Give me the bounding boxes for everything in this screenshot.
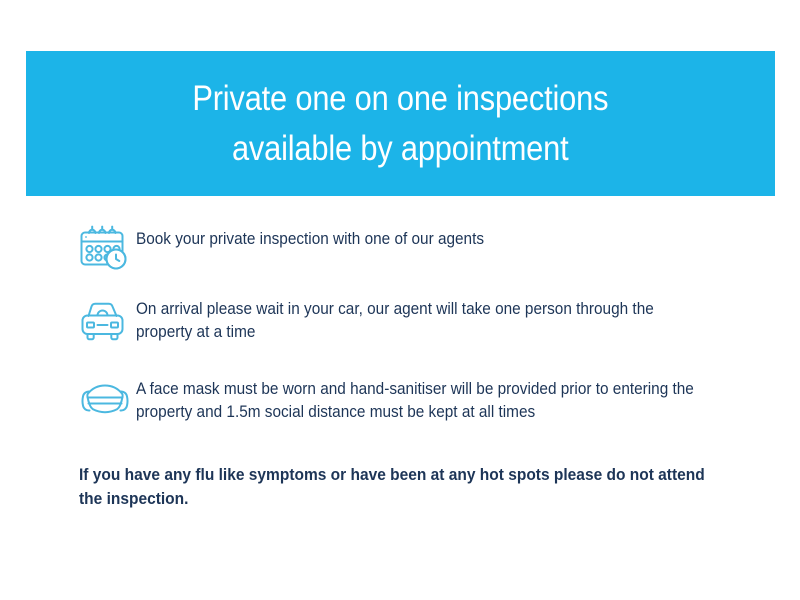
- list-item: Book your private inspection with one of…: [78, 226, 738, 270]
- header-banner: Private one on one inspections available…: [26, 51, 775, 196]
- banner-title-line-2: available by appointment: [232, 124, 569, 174]
- banner-title-line-1: Private one on one inspections: [193, 74, 609, 124]
- face-mask-icon: [78, 376, 136, 426]
- list-item: A face mask must be worn and hand-saniti…: [78, 376, 738, 426]
- list-item-label: A face mask must be worn and hand-saniti…: [136, 376, 696, 425]
- footer-warning-note: If you have any flu like symptoms or hav…: [79, 464, 718, 512]
- list-item-label: Book your private inspection with one of…: [136, 226, 696, 251]
- list-item: On arrival please wait in your car, our …: [78, 296, 738, 346]
- list-item-label: On arrival please wait in your car, our …: [136, 296, 696, 345]
- instruction-list: Book your private inspection with one of…: [78, 226, 738, 426]
- calendar-clock-icon: [78, 226, 136, 270]
- car-front-icon: [78, 296, 136, 346]
- covid-inspection-poster: Private one on one inspections available…: [0, 0, 800, 600]
